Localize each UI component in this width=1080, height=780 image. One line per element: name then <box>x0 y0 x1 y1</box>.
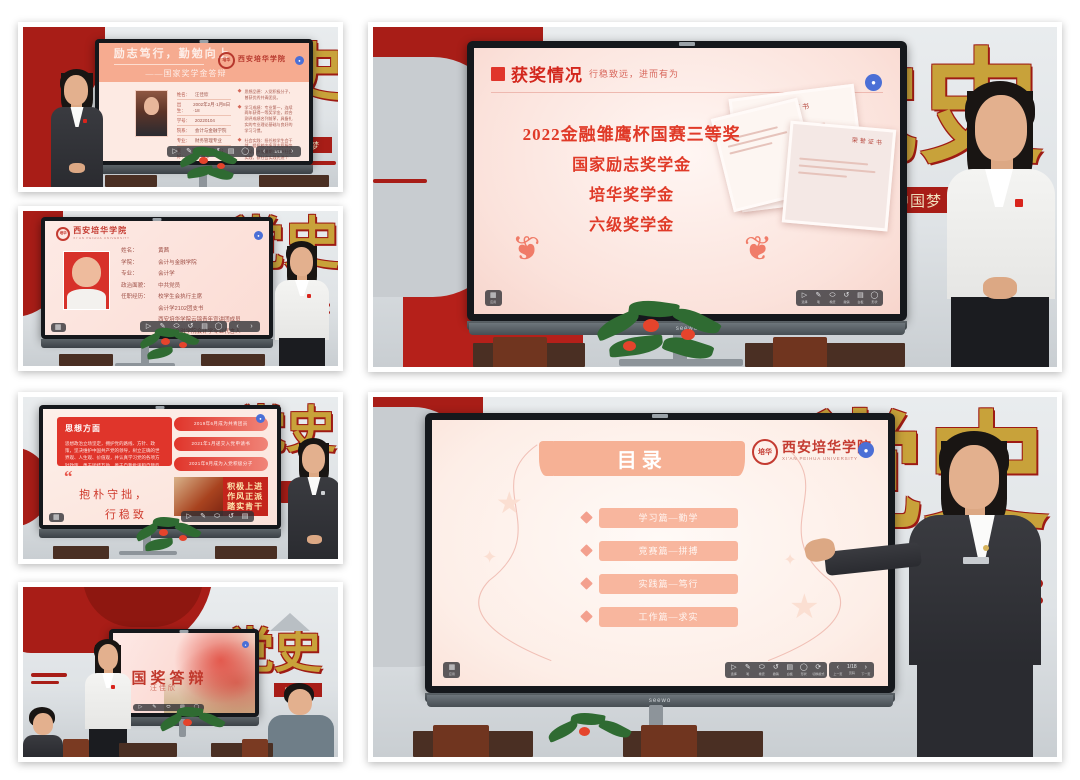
seewo-assist-icon[interactable]: ● <box>858 442 874 458</box>
diamond-bullet-icon <box>581 511 594 524</box>
field-key: 出生： <box>177 102 189 114</box>
certificate-image: 荣誉证书 <box>782 121 896 232</box>
eraser-icon[interactable]: ⬭ <box>212 513 223 520</box>
prev-icon[interactable]: ‹ <box>232 323 243 330</box>
page-indicator: 1/18页码 <box>846 664 857 676</box>
undo-icon[interactable]: ↺撤销 <box>841 292 852 304</box>
list-item: ◆学习成绩：专业第一，连续两年获得一等奖学金，综合测评成绩名列前茅，具备扎实的专… <box>238 105 297 134</box>
caption-line: 积极上进 <box>227 482 263 492</box>
field-value: 会计与金融学院 <box>195 128 227 134</box>
table-row: 学号：20220104 <box>177 116 232 126</box>
timeline-item: 2021年1月递交入党申请书 <box>174 437 268 451</box>
seewo-assist-icon[interactable]: ● <box>295 56 304 65</box>
apps-label: 应用 <box>490 300 496 304</box>
camera-icon <box>156 406 165 409</box>
presenter <box>933 77 1057 367</box>
field-key: 院系： <box>177 128 191 134</box>
toolbar-nav[interactable]: ‹上一页 1/18页码 ›下一页 <box>829 662 874 678</box>
shape-icon[interactable]: ◯ <box>213 323 224 330</box>
certificate-title: 荣誉证书 <box>800 131 884 147</box>
red-square-icon <box>491 67 505 81</box>
quote-line: 抱朴守拙， <box>79 486 172 502</box>
toolbar-apps-button[interactable]: ▦应用 <box>485 290 502 306</box>
university-name-en: XI'AN PEIHUA UNIVERSITY <box>782 456 872 461</box>
field-key: 姓名： <box>177 92 191 98</box>
toolbar-apps-button[interactable]: ▦应用 <box>443 662 460 678</box>
sub-role: 会计学2102团支书 <box>158 304 246 312</box>
list-item: 学院：会计与金融学院 <box>121 258 246 266</box>
rotate-icon[interactable]: ⟳切换模式 <box>812 664 824 676</box>
prev-icon[interactable]: ‹ <box>259 148 270 155</box>
panel-profile-list[interactable]: 党史 培华 西安培华学院 XI'AN PEIHUA UNIVERSITY <box>18 206 343 371</box>
camera-icon <box>679 42 695 46</box>
seewo-assist-icon[interactable]: ● <box>254 231 263 240</box>
field-value: 财务管理专业 <box>195 138 222 144</box>
camera-icon <box>153 218 162 221</box>
board-icon[interactable]: ▤ <box>240 513 251 520</box>
field-key: 学院： <box>121 258 153 266</box>
quote-open-icon: “ <box>64 472 172 482</box>
field-key: 专业： <box>177 138 191 144</box>
board-icon[interactable]: ▤白板 <box>784 664 795 676</box>
toc-banner: 目录 <box>551 441 733 476</box>
list-item[interactable]: 实践篇—笃行 <box>582 574 737 594</box>
presenter <box>285 435 338 559</box>
eraser-icon[interactable]: ⬭橡皮 <box>827 292 838 304</box>
field-value: 2002年2月·1月8日·18 <box>193 102 231 113</box>
shape-icon[interactable]: ◯形状 <box>869 292 880 304</box>
award-item: 国家励志奖学金 <box>500 151 764 175</box>
photo-collage: 党史 中国梦 励志笃行，勤勉向上 ——国家奖学金答辩 培华 <box>0 0 1080 780</box>
field-value: 黄茜 <box>158 246 169 254</box>
university-logo: 培华 西安培华学院 XI'AN PEIHUA UNIVERSITY <box>56 227 130 241</box>
slide-award: 获奖情况 行稳致远，进而有为 荣誉证书 <box>474 48 900 314</box>
field-key: 政治面貌： <box>121 281 153 289</box>
cursor-icon[interactable]: ▷选择 <box>728 664 739 676</box>
slide-header: 获奖情况 行稳致远，进而有为 <box>491 61 679 86</box>
university-seal-icon: 培华 <box>752 439 778 465</box>
list-item[interactable]: 学习篇—勤学 <box>582 508 737 528</box>
portrait-photo <box>135 90 169 137</box>
pen-icon[interactable]: ✎笔 <box>742 664 753 676</box>
toolbar-apps-button[interactable]: ▦ <box>49 513 64 522</box>
university-logo: 培华 西安培华学院 XI'AN PEIHUA UNIVERSITY <box>752 439 872 465</box>
university-name-en: XI'AN PEIHUA UNIVERSITY <box>73 236 130 240</box>
grid-icon[interactable]: ▦ <box>53 324 64 331</box>
star-decoration-icon: ★ <box>496 489 523 519</box>
seewo-assist-icon[interactable]: ● <box>242 641 249 648</box>
timeline-item: 2019年6月成为共青团员 <box>174 417 268 431</box>
board-icon[interactable]: ▤白板 <box>855 292 866 304</box>
table-row: 姓名：汪佳欣 <box>177 90 232 100</box>
cursor-icon[interactable]: ▷ <box>135 705 146 710</box>
wheat-decoration-icon: ❦ <box>744 229 773 269</box>
seewo-assist-icon[interactable]: ● <box>865 74 882 91</box>
diamond-bullet-icon <box>581 544 594 557</box>
camera-icon <box>200 40 209 43</box>
sparkle-decoration-icon: ✦ <box>482 548 497 566</box>
field-value: 20220104 <box>195 118 215 123</box>
annotation-toolbar[interactable]: ▷选择 ✎笔 ⬭橡皮 ↺撤销 ▤白板 ◯形状 ⟳切换模式 ‹上一页 1/18页码… <box>725 662 874 678</box>
university-seal-icon: 培华 <box>56 227 70 241</box>
name-tag <box>963 557 989 564</box>
field-key: 学号： <box>177 118 191 124</box>
toc-item-label[interactable]: 竞赛篇—拼搏 <box>599 541 737 561</box>
diamond-bullet-icon <box>581 577 594 590</box>
toolbar-apps-button[interactable]: ▦ <box>51 323 66 332</box>
bullet-icon: ◆ <box>238 105 242 134</box>
university-logo: 培华 西安培华学院 <box>218 52 286 69</box>
cursor-icon[interactable]: ▷选择 <box>799 292 810 304</box>
audience-member <box>23 705 63 757</box>
prev-icon[interactable]: ‹上一页 <box>832 664 843 676</box>
toc-item-label[interactable]: 工作篇—求实 <box>599 607 737 627</box>
toolbar-nav[interactable]: ‹ › <box>229 321 260 332</box>
toolbar-tools[interactable]: ▷选择 ✎笔 ⬭橡皮 ↺撤销 ▤白板 ◯形状 ⟳切换模式 <box>725 662 827 678</box>
panel-award-main[interactable]: 党史 中国梦 获奖情况 行稳致远，进而有为 <box>368 22 1062 372</box>
award-item: 2022金融雏鹰杯国赛三等奖 <box>500 120 764 145</box>
list-item: 任职经历：校学生会执行主席 <box>121 292 246 300</box>
slide-profile-list: 培华 西安培华学院 XI'AN PEIHUA UNIVERSITY 姓名：黄茜 … <box>45 221 269 335</box>
ideology-card: 思想方面 思想政治立场坚定，拥护党的路线、方针、政策，坚决维护中国共产党的领导，… <box>57 417 172 466</box>
note-text: 学习成绩：专业第一，连续两年获得一等奖学金，综合测评成绩名列前茅，具备扎实的专业… <box>244 105 296 134</box>
touchscreen-display[interactable]: 思想方面 思想政治立场坚定，拥护党的路线、方针、政策，坚决维护中国共产党的领导，… <box>39 405 281 529</box>
camera-icon <box>180 630 189 633</box>
field-value: 会计学 <box>158 269 175 277</box>
list-item: 专业：会计学 <box>121 269 246 277</box>
caption-line: 作风正派 <box>227 492 263 502</box>
award-list: 2022金融雏鹰杯国赛三等奖 国家励志奖学金 培华奖学金 六级奖学金 <box>500 120 764 235</box>
field-key: 专业： <box>121 269 153 277</box>
panel-ideology[interactable]: 党史 思想方面 思想政治立场坚定，拥护党的路线、方针、政策，坚决维护中国共产党的… <box>18 392 343 564</box>
field-key: 任职经历： <box>121 292 153 300</box>
annotation-toolbar[interactable]: ▷选择 ✎笔 ⬭橡皮 ↺撤销 ▤白板 ◯形状 <box>796 290 883 306</box>
field-key: 姓名： <box>121 246 153 254</box>
sparkle-decoration-icon: ✦ <box>783 553 796 569</box>
field-value: 中共党员 <box>158 281 180 289</box>
list-item[interactable]: 工作篇—求实 <box>582 607 737 627</box>
toolbar-nav[interactable]: ‹ 1/18 › <box>256 146 301 157</box>
star-decoration-icon: ★ <box>789 590 819 624</box>
slide-profile-table: 励志笃行，勤勉向上 ——国家奖学金答辩 培华 西安培华学院 <box>99 43 309 161</box>
university-name-cn: 西安培华学院 <box>73 227 130 235</box>
presenter <box>271 238 333 366</box>
toc-item-label[interactable]: 学习篇—勤学 <box>599 508 737 528</box>
camera-icon <box>652 414 668 418</box>
next-icon[interactable]: ›下一页 <box>860 664 871 676</box>
bullet-icon: ◆ <box>238 89 242 101</box>
grid-icon[interactable]: ▦应用 <box>488 292 499 304</box>
page-indicator: 1/18 <box>273 148 284 155</box>
table-row: 院系：会计与金融学院 <box>177 126 232 136</box>
award-item: 培华奖学金 <box>500 181 764 205</box>
note-text: 思想品德：入党积极分子，曾获优秀共青团员。 <box>244 89 296 101</box>
grid-icon[interactable]: ▦应用 <box>446 664 457 676</box>
timeline-item: 2021年9月成为入党积极分子 <box>174 457 268 471</box>
slide-header-title: 获奖情况 <box>511 61 583 86</box>
diamond-bullet-icon <box>581 610 594 623</box>
university-seal-icon: 培华 <box>218 52 235 69</box>
panel-title-slide[interactable]: 党史 中国梦 国奖答辩 汪佳欣 ● ▷ ✎ <box>18 582 343 762</box>
slide-header-subtitle: ——国家奖学金答辩 <box>145 68 226 79</box>
field-value: 汪佳欣 <box>195 92 209 98</box>
card-title: 思想方面 <box>65 423 164 434</box>
table-row: 出生：2002年2月·1月8日·18 <box>177 100 232 116</box>
list-item[interactable]: 竞赛篇—拼搏 <box>582 541 737 561</box>
field-value: 会计与金融学院 <box>158 258 197 266</box>
toc-item-list: 学习篇—勤学 竞赛篇—拼搏 实践篇—笃行 <box>582 508 737 627</box>
presenter-name: 汪佳欣 <box>150 683 177 693</box>
pen-icon[interactable]: ✎笔 <box>813 292 824 304</box>
panel-profile-table[interactable]: 党史 中国梦 励志笃行，勤勉向上 ——国家奖学金答辩 培华 <box>18 22 343 192</box>
toc-item-label[interactable]: 实践篇—笃行 <box>599 574 737 594</box>
slide-ideology: 思想方面 思想政治立场坚定，拥护党的路线、方针、政策，坚决维护中国共产党的领导，… <box>43 409 277 525</box>
presenter <box>81 635 135 757</box>
portrait-photo <box>63 251 110 310</box>
touchscreen-display[interactable]: 获奖情况 行稳致远，进而有为 荣誉证书 <box>467 41 907 321</box>
wheat-decoration-icon: ❦ <box>512 229 541 269</box>
touchscreen-display[interactable]: 培华 西安培华学院 XI'AN PEIHUA UNIVERSITY 姓名：黄茜 … <box>41 217 273 339</box>
audience-member <box>268 681 334 757</box>
slide-header-subtitle: 行稳致远，进而有为 <box>589 67 679 80</box>
eraser-icon[interactable]: ⬭橡皮 <box>756 664 767 676</box>
next-icon[interactable]: › <box>246 323 257 330</box>
list-item: ◆思想品德：入党积极分子，曾获优秀共青团员。 <box>238 89 297 101</box>
seewo-assist-icon[interactable]: ● <box>256 414 265 423</box>
toolbar-tools[interactable]: ▷选择 ✎笔 ⬭橡皮 ↺撤销 ▤白板 ◯形状 <box>796 290 883 306</box>
panel-toc-main[interactable]: 党史 ★ ✦ ★ ✦ <box>368 392 1062 762</box>
undo-icon[interactable]: ↺ <box>226 513 237 520</box>
presenter <box>891 427 1057 757</box>
grid-icon[interactable]: ▦ <box>51 514 62 521</box>
field-value: 校学生会执行主席 <box>158 292 202 300</box>
shape-icon[interactable]: ◯形状 <box>798 664 809 676</box>
list-item: 政治面貌：中共党员 <box>121 281 246 289</box>
list-item: 姓名：黄茜 <box>121 246 246 254</box>
undo-icon[interactable]: ↺撤销 <box>770 664 781 676</box>
university-name-cn: 西安培华学院 <box>238 56 286 63</box>
presenter <box>49 67 105 187</box>
next-icon[interactable]: › <box>287 148 298 155</box>
